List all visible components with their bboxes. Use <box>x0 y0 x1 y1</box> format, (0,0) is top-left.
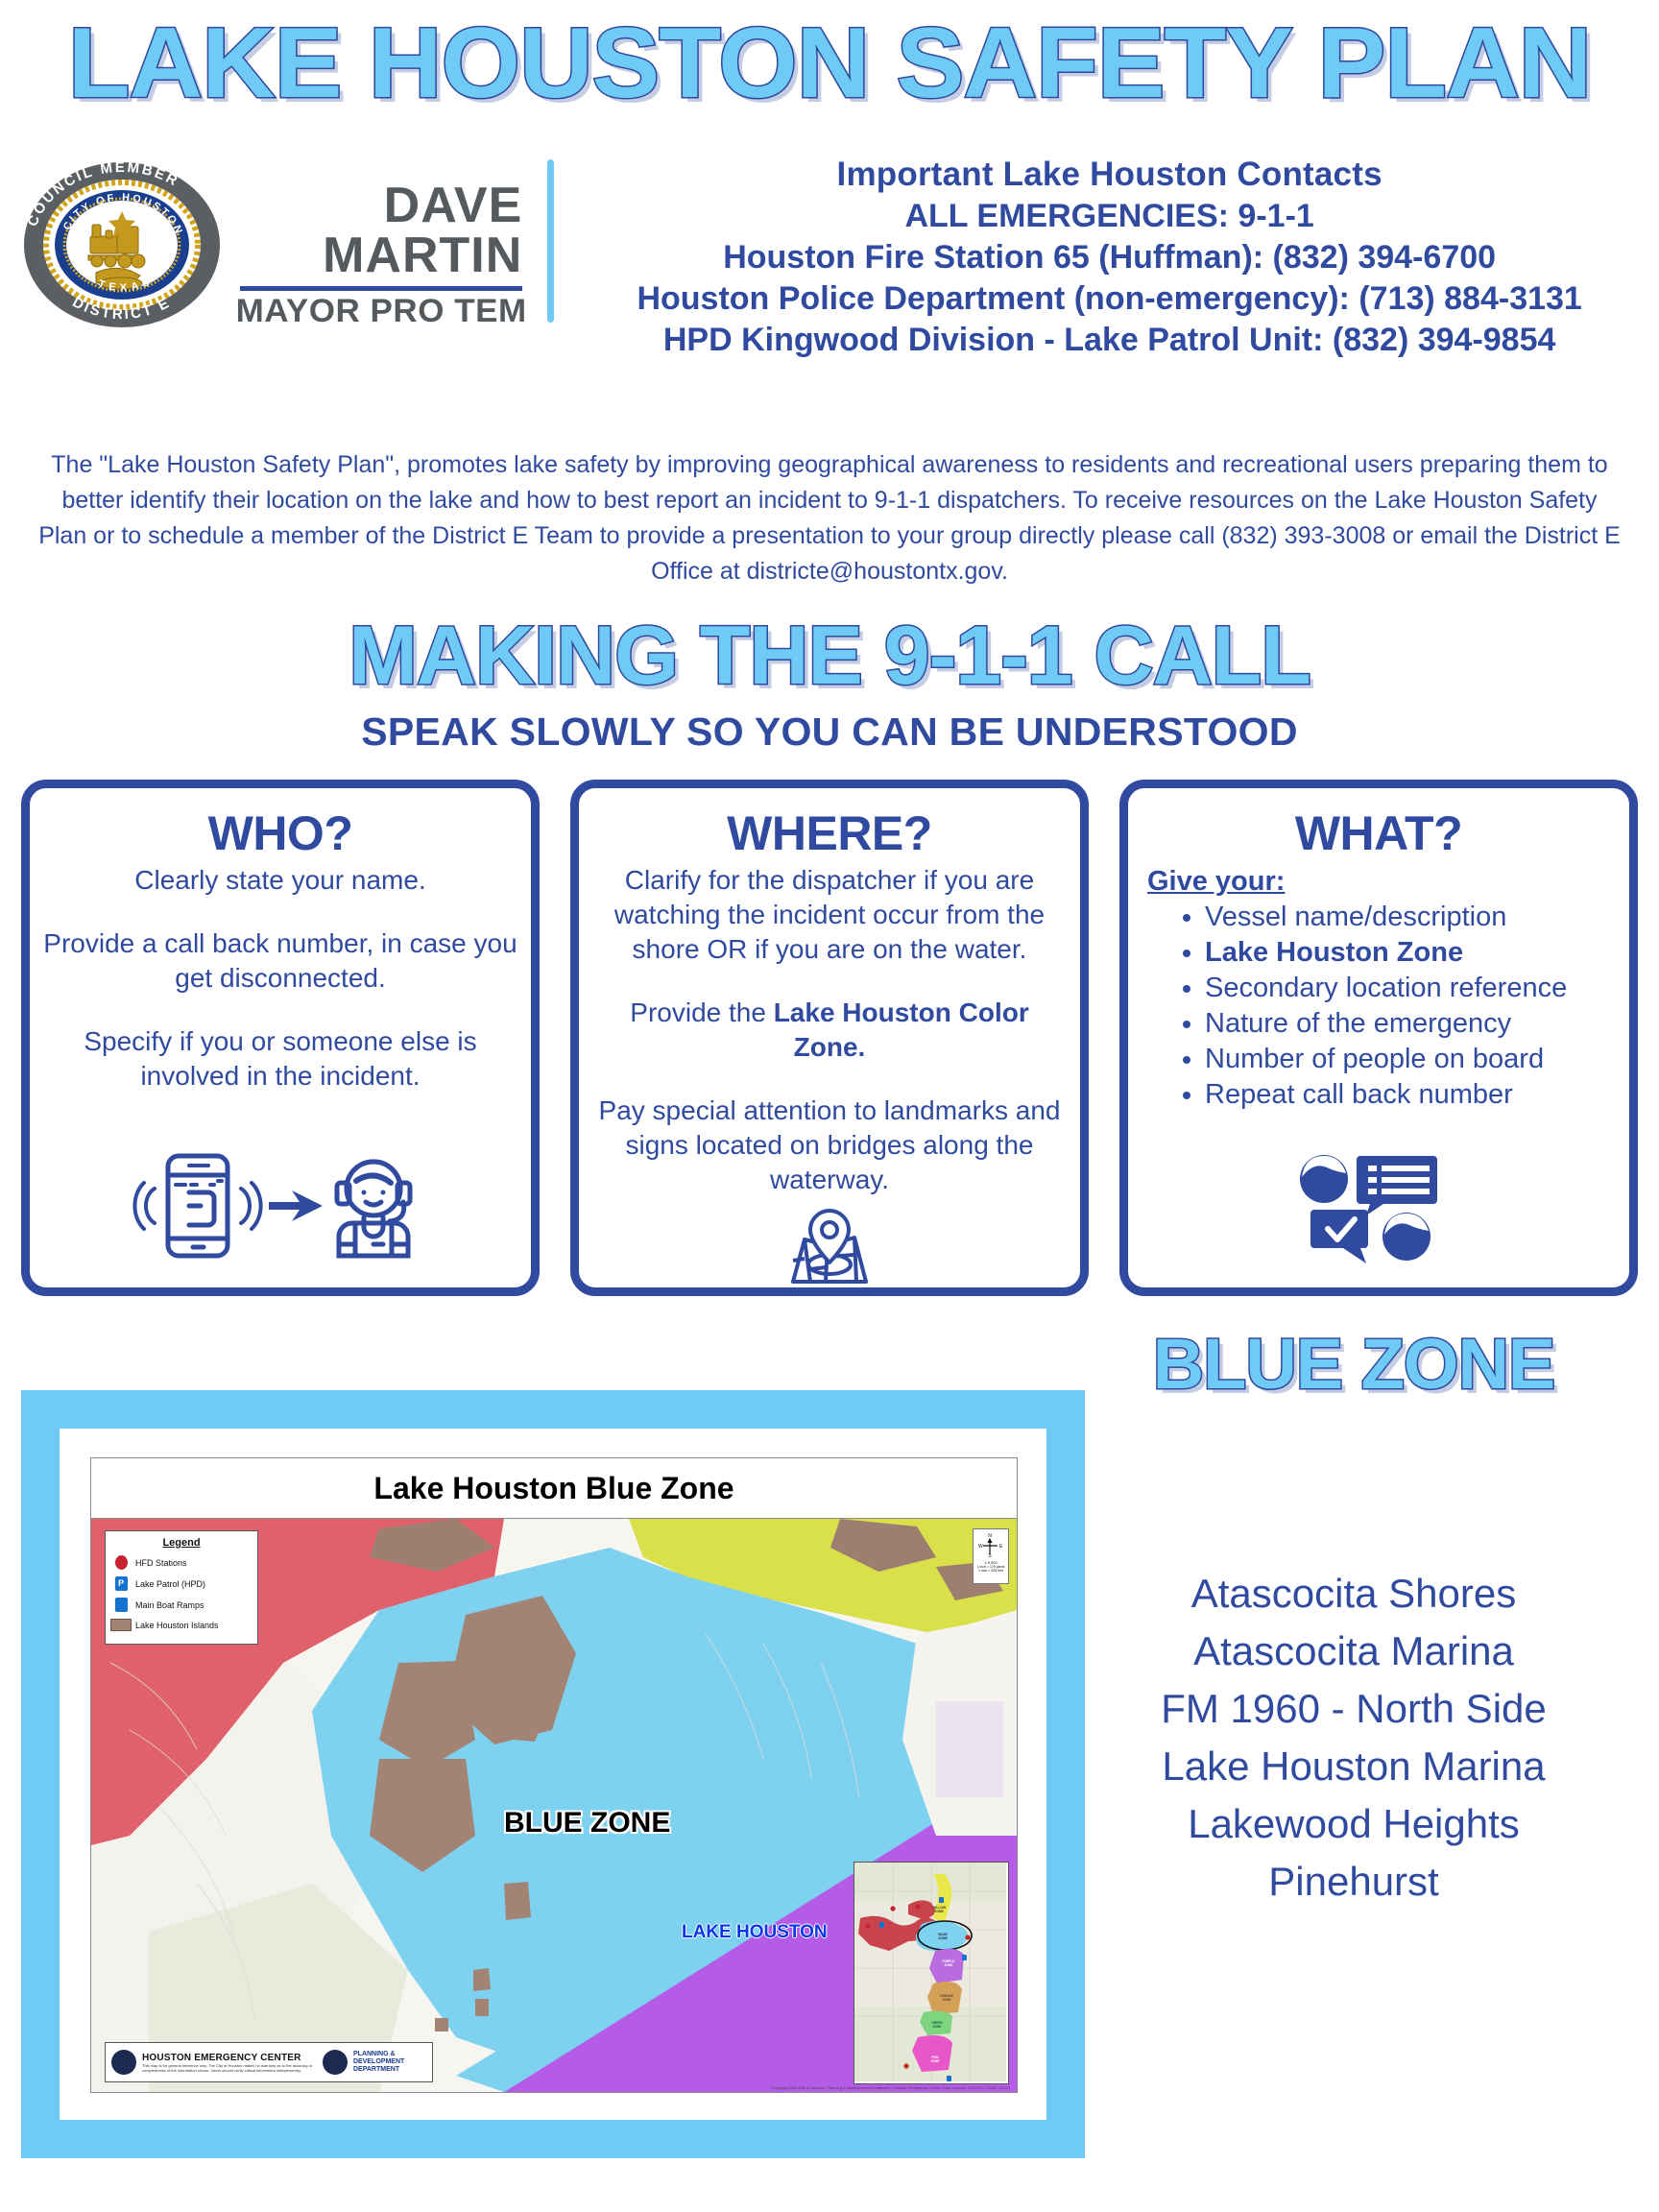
legend-label: Lake Houston Islands <box>135 1621 219 1630</box>
svg-text:ZONE: ZONE <box>943 1998 951 2002</box>
map-lake-label: LAKE HOUSTON <box>682 1922 828 1943</box>
hec-logo-icon <box>111 2050 136 2075</box>
police-patrol-icon: P <box>110 1576 132 1591</box>
svg-text:ZONE: ZONE <box>938 1936 948 1940</box>
zone-location-list: Atascocita Shores Atascocita Marina FM 1… <box>1046 1565 1659 1911</box>
boat-ramp-icon <box>110 1598 132 1612</box>
legend-row-lake-patrol: P Lake Patrol (HPD) <box>110 1576 252 1591</box>
list-item: FM 1960 - North Side <box>1046 1680 1659 1738</box>
card-where-p2: Provide the Lake Houston Color Zone. <box>592 996 1067 1065</box>
contact-line-police: Houston Police Department (non-emergency… <box>560 278 1659 320</box>
legend-row-hfd: HFD Stations <box>110 1555 252 1570</box>
map-frame[interactable]: Lake Houston Blue Zone <box>90 1457 1018 2093</box>
card-what-list: Vessel name/description Lake Houston Zon… <box>1180 900 1567 1113</box>
name-divider <box>240 286 522 291</box>
making-the-call-title: MAKING THE 9-1-1 CALL <box>0 613 1659 699</box>
svg-text:N: N <box>988 1533 992 1539</box>
legend-label: Lake Patrol (HPD) <box>135 1579 205 1589</box>
svg-text:ZONE: ZONE <box>931 2059 940 2063</box>
official-last-name: MARTIN <box>240 230 522 280</box>
call-guidance-cards: WHO? Clearly state your name. Provide a … <box>21 780 1638 1296</box>
speaker-head-icon <box>1300 1155 1348 1203</box>
map-footer-left-sub: This map is for general reference only. … <box>142 2063 317 2073</box>
list-item: Number of people on board <box>1205 1042 1567 1077</box>
legend-title: Legend <box>110 1537 252 1549</box>
fire-station-icon <box>110 1555 132 1570</box>
legend-row-boat-ramps: Main Boat Ramps <box>110 1598 252 1612</box>
map-legend: Legend HFD Stations P Lake Patrol (HPD) … <box>105 1530 258 1645</box>
list-item: Lake Houston Zone <box>1205 935 1567 971</box>
svg-text:W: W <box>978 1544 983 1550</box>
map-zone-label: BLUE ZONE <box>504 1807 670 1839</box>
map-body[interactable]: Legend HFD Stations P Lake Patrol (HPD) … <box>91 1519 1017 2092</box>
card-where-p2-prefix: Provide the <box>630 998 773 1027</box>
card-what: WHAT? Give your: Vessel name/description… <box>1119 780 1638 1296</box>
card-where-icons <box>772 1197 887 1304</box>
page-title: LAKE HOUSTON SAFETY PLAN <box>0 13 1659 113</box>
list-item: Nature of the emergency <box>1205 1006 1567 1042</box>
legend-label: Main Boat Ramps <box>135 1600 204 1610</box>
zone-title: BLUE ZONE <box>1046 1327 1659 1402</box>
contact-line-fire-station: Houston Fire Station 65 (Huffman): (832)… <box>560 237 1659 278</box>
svg-text:ZONE: ZONE <box>934 1910 944 1913</box>
legend-label: HFD Stations <box>135 1558 187 1568</box>
map-scale-feet: 1 inch = 525 feet <box>974 1569 1008 1573</box>
map-location-pin-icon <box>772 1197 887 1289</box>
legend-row-islands: Lake Houston Islands <box>110 1619 252 1631</box>
check-speech-bubble-icon <box>1310 1210 1368 1263</box>
card-who-icons <box>122 1142 439 1282</box>
card-where-p2-bold: Lake Houston Color Zone. <box>774 998 1029 1062</box>
card-who-p2: Provide a call back number, in case you … <box>43 926 517 996</box>
contact-line-lake-patrol: HPD Kingwood Division - Lake Patrol Unit… <box>560 320 1659 361</box>
map-white-mat: Lake Houston Blue Zone <box>60 1429 1046 2120</box>
intro-paragraph: The "Lake Houston Safety Plan", promotes… <box>35 447 1624 589</box>
list-item: Atascocita Marina <box>1046 1623 1659 1680</box>
island-swatch <box>110 1619 132 1631</box>
planning-dept-logo-icon <box>323 2050 348 2075</box>
card-where: WHERE? Clarify for the dispatcher if you… <box>570 780 1089 1296</box>
svg-text:ZONE: ZONE <box>945 1963 953 1967</box>
compass-scale-box: N S W E 1:9,000 1 inch = 175 yards 1 inc… <box>973 1528 1009 1584</box>
contacts-block: Important Lake Houston Contacts ALL EMER… <box>560 154 1659 361</box>
card-where-heading: WHERE? <box>727 807 932 859</box>
list-item: Pinehurst <box>1046 1853 1659 1911</box>
list-speech-bubble-icon <box>1357 1156 1437 1215</box>
city-of-houston-seal: CITY OF HOUSTON TEXAS COUNCIL MEMBER DIS… <box>21 161 223 334</box>
svg-text:E: E <box>999 1544 1003 1550</box>
list-item: Lakewood Heights <box>1046 1795 1659 1853</box>
list-item: Lake Houston Marina <box>1046 1738 1659 1795</box>
listener-head-icon <box>1382 1213 1431 1261</box>
card-where-p3: Pay special attention to landmarks and s… <box>592 1094 1067 1197</box>
card-who-heading: WHO? <box>208 807 353 859</box>
card-what-give-label: Give your: <box>1147 865 1285 898</box>
official-name-block: DAVE MARTIN MAYOR PRO TEM <box>240 180 522 327</box>
card-who-p3: Specify if you or someone else is involv… <box>43 1024 517 1094</box>
header-divider <box>547 159 554 323</box>
dispatcher-headset-icon <box>337 1162 410 1256</box>
official-role: MAYOR PRO TEM <box>236 295 527 327</box>
list-item: Secondary location reference <box>1205 971 1567 1006</box>
card-what-heading: WHAT? <box>1295 807 1462 859</box>
map-footer-right-title: PLANNING & DEVELOPMENT DEPARTMENT <box>353 2051 426 2074</box>
compass-rose-icon: N S W E <box>976 1531 1005 1558</box>
inset-overview-map[interactable]: YELLOW ZONE BLUE ZONE PURPLE ZONE ORA <box>854 1862 1009 2084</box>
card-who: WHO? Clearly state your name. Provide a … <box>21 780 540 1296</box>
making-the-call-subtitle: SPEAK SLOWLY SO YOU CAN BE UNDERSTOOD <box>0 710 1659 753</box>
card-where-p1: Clarify for the dispatcher if you are wa… <box>592 863 1067 967</box>
contact-line-emergencies: ALL EMERGENCIES: 9-1-1 <box>560 196 1659 237</box>
mobile-phone-call-icon <box>134 1156 260 1256</box>
contacts-heading: Important Lake Houston Contacts <box>560 154 1659 196</box>
list-item: Repeat call back number <box>1205 1077 1567 1113</box>
svg-text:ZONE: ZONE <box>933 2025 942 2029</box>
card-who-p1: Clearly state your name. <box>134 863 425 898</box>
list-item: Vessel name/description <box>1205 900 1567 935</box>
header: CITY OF HOUSTON TEXAS COUNCIL MEMBER DIS… <box>0 152 1659 315</box>
card-what-icons <box>1287 1152 1470 1282</box>
map-panel: Lake Houston Blue Zone <box>21 1390 1085 2158</box>
map-footer-left-title: HOUSTON EMERGENCY CENTER <box>142 2053 317 2063</box>
official-first-name: DAVE <box>240 180 522 230</box>
map-credit-text: Copyright 2020 City of Houston, Planning… <box>772 2085 1011 2090</box>
map-title: Lake Houston Blue Zone <box>91 1458 1017 1519</box>
map-footer: HOUSTON EMERGENCY CENTER This map is for… <box>105 2042 433 2082</box>
list-item: Atascocita Shores <box>1046 1565 1659 1623</box>
arrow-right-icon <box>269 1190 323 1221</box>
